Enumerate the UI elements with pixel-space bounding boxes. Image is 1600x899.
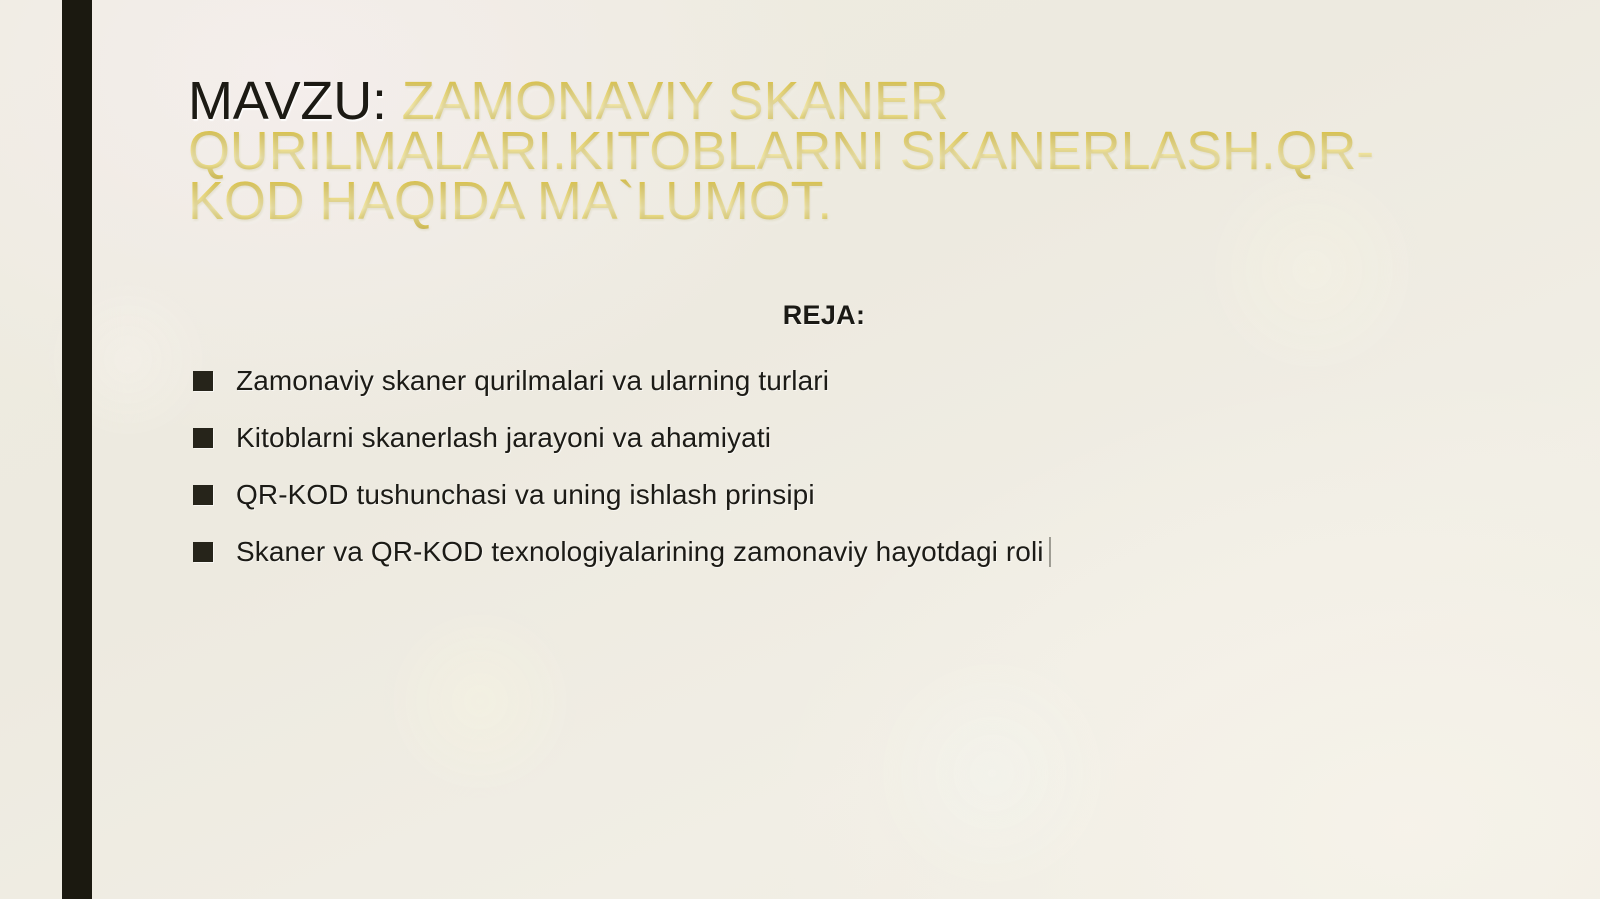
section-heading-reja: REJA: — [188, 300, 1460, 331]
list-item[interactable]: QR-KOD tushunchasi va uning ishlash prin… — [193, 466, 1493, 523]
page-title: MAVZU: ZAMONAVIY SKANER QURILMALARI.KITO… — [188, 76, 1388, 226]
square-bullet-icon — [193, 485, 213, 505]
square-bullet-icon — [193, 371, 213, 391]
title-block: MAVZU: ZAMONAVIY SKANER QURILMALARI.KITO… — [188, 76, 1388, 226]
plan-list: Zamonaviy skaner qurilmalari va ularning… — [193, 352, 1493, 580]
list-item[interactable]: Zamonaviy skaner qurilmalari va ularning… — [193, 352, 1493, 409]
list-item-label: Kitoblarni skanerlash jarayoni va ahamiy… — [236, 421, 771, 455]
list-item-label: Skaner va QR-KOD texnologiyalarining zam… — [236, 535, 1044, 569]
text-cursor-caret — [1049, 537, 1051, 567]
list-item-label: QR-KOD tushunchasi va uning ishlash prin… — [236, 478, 815, 512]
list-item[interactable]: Skaner va QR-KOD texnologiyalarining zam… — [193, 523, 1493, 580]
presentation-slide: MAVZU: ZAMONAVIY SKANER QURILMALARI.KITO… — [0, 0, 1600, 899]
square-bullet-icon — [193, 542, 213, 562]
list-item-label: Zamonaviy skaner qurilmalari va ularning… — [236, 364, 829, 398]
square-bullet-icon — [193, 428, 213, 448]
list-item[interactable]: Kitoblarni skanerlash jarayoni va ahamiy… — [193, 409, 1493, 466]
slide-content: MAVZU: ZAMONAVIY SKANER QURILMALARI.KITO… — [0, 0, 1600, 899]
